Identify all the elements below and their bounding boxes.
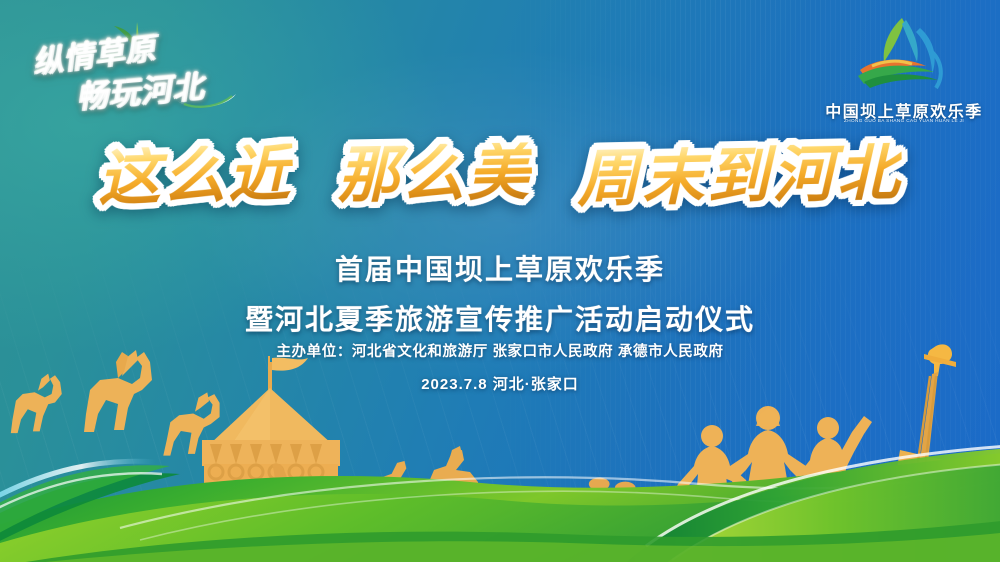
headline: 这么近 那么美 周末到河北 — [0, 146, 1000, 208]
subtitle-block: 首届中国坝上草原欢乐季 暨河北夏季旅游宣传推广活动启动仪式 — [0, 248, 1000, 338]
grassland-festival-emblem-icon — [842, 14, 966, 107]
yurt-flag-icon — [272, 358, 308, 371]
brush-swoosh-icon — [174, 84, 242, 117]
event-logo-right: 中国坝上草原欢乐季 ZHONG GUO BA SHANG CAO YUAN HU… — [824, 14, 984, 136]
subtitle-line-1: 首届中国坝上草原欢乐季 — [0, 248, 1000, 288]
poster-canvas: 纵情草原 畅玩河北 中国坝上草原欢乐季 ZHONG GUO BA SHANG C — [0, 0, 1000, 562]
scenery-illustration — [0, 332, 1000, 562]
headline-word-3: 周末到河北 — [576, 143, 902, 212]
event-logo-name-pinyin: ZHONG GUO BA SHANG CAO YUAN HUAN LE JI — [822, 118, 985, 123]
horse-rider-group-left — [11, 350, 220, 456]
grass-ribbon-group — [0, 446, 1000, 562]
headline-word-2: 那么美 — [337, 142, 533, 207]
headline-word-1: 这么近 — [98, 143, 295, 210]
brand-lockup-left: 纵情草原 畅玩河北 — [24, 22, 239, 114]
